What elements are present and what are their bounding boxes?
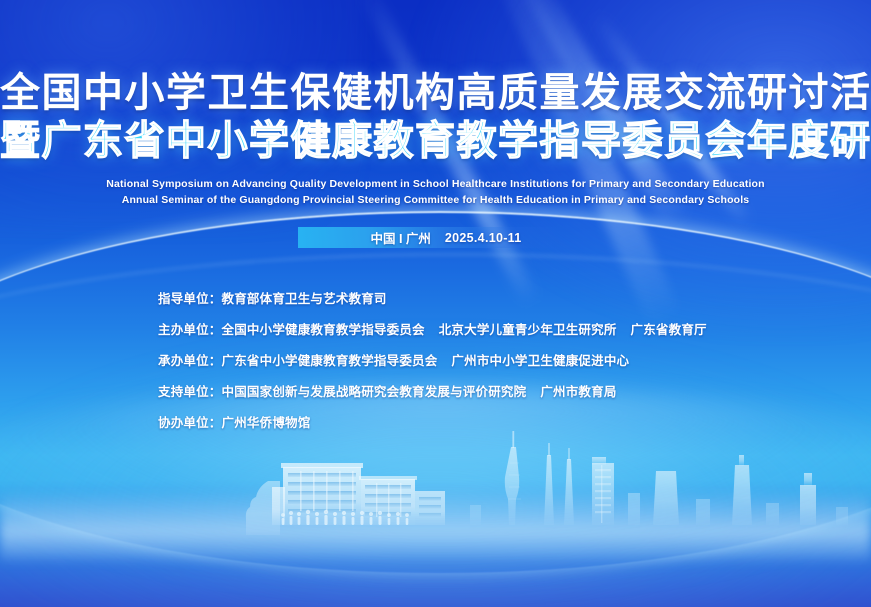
school-building-group [246,463,445,535]
poster-title-line-1: 全国中小学卫生保健机构高质量发展交流研讨活动 [0,70,871,116]
organization-label: 承办单位： [158,350,222,369]
landmark-towers-group [470,431,848,525]
organization-row: 支持单位：中国国家创新与发展战略研究会教育发展与评价研究院广州市教育局 [158,381,778,400]
organization-names: 中国国家创新与发展战略研究会教育发展与评价研究院广州市教育局 [222,381,617,400]
organization-list: 指导单位：教育部体育卫生与艺术教育司主办单位：全国中小学健康教育教学指导委员会北… [158,288,778,443]
event-meta-banner: 中国 I 广州 2025.4.10-11 [298,227,562,248]
organization-names: 广东省中小学健康教育教学指导委员会广州市中小学卫生健康促进中心 [222,350,630,369]
organization-name: 教育部体育卫生与艺术教育司 [222,292,387,306]
organization-label: 主办单位： [158,319,222,338]
tall-tower [732,455,752,525]
organization-names: 教育部体育卫生与艺术教育司 [222,288,387,307]
organization-name: 广州市中小学卫生健康促进中心 [451,354,629,368]
poster-subtitle-line-1: National Symposium on Advancing Quality … [0,176,871,192]
background-block-e [470,505,481,525]
twin-spire-tower [544,443,554,525]
title-block: 全国中小学卫生保健机构高质量发展交流研讨活动 暨广东省中小学健康教育教学指导委员… [0,70,871,164]
twin-spire-tower-b [564,448,574,525]
organization-row: 主办单位：全国中小学健康教育教学指导委员会北京大学儿童青少年卫生研究所广东省教育… [158,319,778,338]
organization-label: 协办单位： [158,412,222,431]
organization-name: 北京大学儿童青少年卫生研究所 [439,323,617,337]
event-location: 中国 I 广州 [370,228,430,247]
block-tower [800,473,816,525]
conference-poster: 全国中小学卫生保健机构高质量发展交流研讨活动 暨广东省中小学健康教育教学指导委员… [0,0,871,607]
organization-name: 中国国家创新与发展战略研究会教育发展与评价研究院 [222,385,527,399]
organization-row: 协办单位：广州华侨博物馆 [158,412,778,431]
background-block-a [628,493,640,525]
subtitle-block: National Symposium on Advancing Quality … [0,176,871,208]
office-tower [592,457,614,525]
canton-tower [505,431,521,525]
organization-name: 广州市教育局 [540,385,616,399]
organization-name: 全国中小学健康教育教学指导委员会 [222,323,425,337]
organization-label: 支持单位： [158,381,222,400]
organization-names: 广州华侨博物馆 [222,412,311,431]
event-date: 2025.4.10-11 [445,231,522,245]
organization-name: 广东省中小学健康教育教学指导委员会 [222,354,438,368]
organization-row: 承办单位：广东省中小学健康教育教学指导委员会广州市中小学卫生健康促进中心 [158,350,778,369]
organization-name: 广州华侨博物馆 [222,416,311,430]
poster-title-line-2: 暨广东省中小学健康教育教学指导委员会年度研讨活动 [0,118,871,164]
background-block-c [766,503,779,525]
city-skyline-illustration [0,425,871,555]
background-block-b [696,499,710,525]
poster-subtitle-line-2: Annual Seminar of the Guangdong Provinci… [0,192,871,208]
background-block-d [836,507,848,525]
organization-row: 指导单位：教育部体育卫生与艺术教育司 [158,288,778,307]
high-rise [653,471,679,525]
organization-names: 全国中小学健康教育教学指导委员会北京大学儿童青少年卫生研究所广东省教育厅 [222,319,707,338]
organization-label: 指导单位： [158,288,222,307]
organization-name: 广东省教育厅 [631,323,707,337]
